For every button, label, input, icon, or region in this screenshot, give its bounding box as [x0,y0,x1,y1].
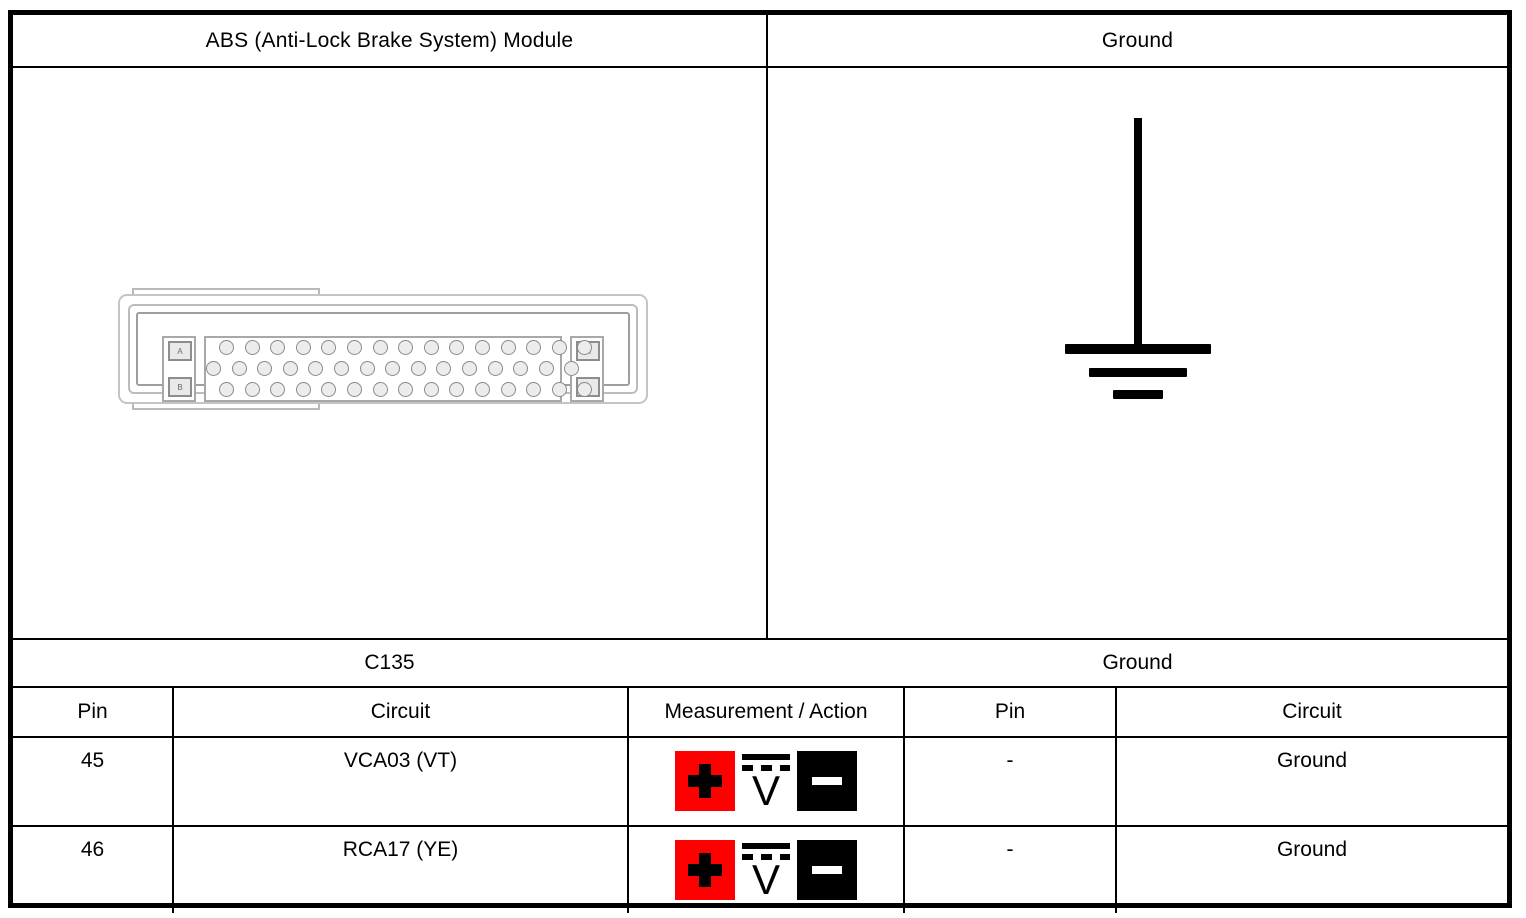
connector-pin-row-bottom [206,382,560,399]
connector-pin [270,340,285,355]
header-title-right: Ground [768,15,1507,66]
connector-pin [296,382,311,397]
connector-pin [245,382,260,397]
left-terminal-b: B [168,377,192,397]
ground-bar-3 [1113,390,1163,399]
table-header-row: Pin Circuit Measurement / Action Pin Cir… [13,688,1507,736]
section-label-ground: Ground [768,640,1507,686]
connector-pin [373,340,388,355]
voltmeter-label: V [738,862,794,901]
connector-panel: A B A B [13,68,766,638]
abs-module-connector-graphic: A B A B [118,288,648,410]
measurement-icon-group: V [675,749,857,813]
connector-pin [552,340,567,355]
connector-pin [436,361,451,376]
connector-shell: A B A B [118,294,648,404]
header-title-left: ABS (Anti-Lock Brake System) Module [13,15,766,66]
voltmeter-label: V [738,773,794,812]
dc-voltmeter-icon: V [738,750,794,812]
column-header-measurement: Measurement / Action [629,688,903,736]
connector-pin [257,361,272,376]
connector-pin [398,340,413,355]
connector-pin [488,361,503,376]
connector-pin [449,340,464,355]
ground-bar-2 [1089,368,1187,377]
column-header-circuit: Circuit [174,688,627,736]
connector-pin [219,340,234,355]
table-header-rule [13,736,1507,738]
table-divider-4 [1115,688,1117,913]
connector-pin [321,340,336,355]
pinout-table: Pin Circuit Measurement / Action Pin Cir… [13,688,1507,913]
connector-pin [398,382,413,397]
row-ground-pin: - [905,738,1115,825]
connector-pin [206,361,221,376]
section-label-band: C135 Ground [13,640,1507,686]
left-terminal-a: A [168,341,192,361]
connector-pin-row-middle [206,361,560,378]
row-measurement: V [629,738,903,825]
connector-pin [219,382,234,397]
row-ground-pin: - [905,827,1115,913]
row-circuit: VCA03 (VT) [174,738,627,825]
section-label-connector: C135 [13,640,766,686]
measurement-icon-group: V [675,838,857,902]
row-pin: 45 [13,738,172,825]
connector-pin [526,340,541,355]
positive-probe-icon [675,751,735,811]
connector-pin [424,382,439,397]
connector-pin [373,382,388,397]
column-header-ground-pin: Pin [905,688,1115,736]
table-divider-1 [172,688,174,913]
connector-left-end-block: A B [162,336,196,402]
connector-pin-field [204,336,562,402]
connector-pin [296,340,311,355]
row-pin: 46 [13,827,172,913]
ground-bar-1 [1065,344,1211,354]
connector-pin-row-top [206,340,560,357]
connector-pin [232,361,247,376]
connector-pin [501,340,516,355]
table-row: 46 RCA17 (YE) V - Ground [13,827,1507,913]
connector-pin [462,361,477,376]
ground-panel [768,68,1507,638]
connector-pin [334,361,349,376]
connector-body: A B A B [136,312,630,386]
row-measurement: V [629,827,903,913]
dc-solid-bar [742,754,790,760]
column-header-ground-circuit: Circuit [1117,688,1507,736]
connector-pin [424,340,439,355]
ground-symbol [1063,118,1213,408]
row-circuit: RCA17 (YE) [174,827,627,913]
connector-pin [347,340,362,355]
header-band: ABS (Anti-Lock Brake System) Module Grou… [13,15,1507,66]
table-row-rule-1 [13,825,1507,827]
connector-pin [513,361,528,376]
connector-pin [539,361,554,376]
connector-pin [360,361,375,376]
row-ground-circuit: Ground [1117,738,1507,825]
table-divider-3 [903,688,905,913]
connector-pin [552,382,567,397]
connector-pin [308,361,323,376]
connector-pin [245,340,260,355]
table-divider-2 [627,688,629,913]
row-ground-circuit: Ground [1117,827,1507,913]
negative-probe-icon [797,751,857,811]
positive-probe-icon [675,840,735,900]
negative-probe-icon [797,840,857,900]
ground-stem [1134,118,1142,346]
dc-voltmeter-icon: V [738,839,794,901]
connector-pin [475,340,490,355]
connector-pin [321,382,336,397]
dc-solid-bar [742,843,790,849]
connector-pin [501,382,516,397]
table-row: 45 VCA03 (VT) V - Ground [13,738,1507,825]
connector-pin [270,382,285,397]
connector-pin [347,382,362,397]
wiring-diagram-sheet: ABS (Anti-Lock Brake System) Module Grou… [8,10,1512,908]
connector-pin [411,361,426,376]
connector-pin [385,361,400,376]
connector-pin [283,361,298,376]
column-header-pin: Pin [13,688,172,736]
connector-pin [449,382,464,397]
diagram-band: A B A B [13,68,1507,638]
connector-pin [475,382,490,397]
connector-pin [526,382,541,397]
